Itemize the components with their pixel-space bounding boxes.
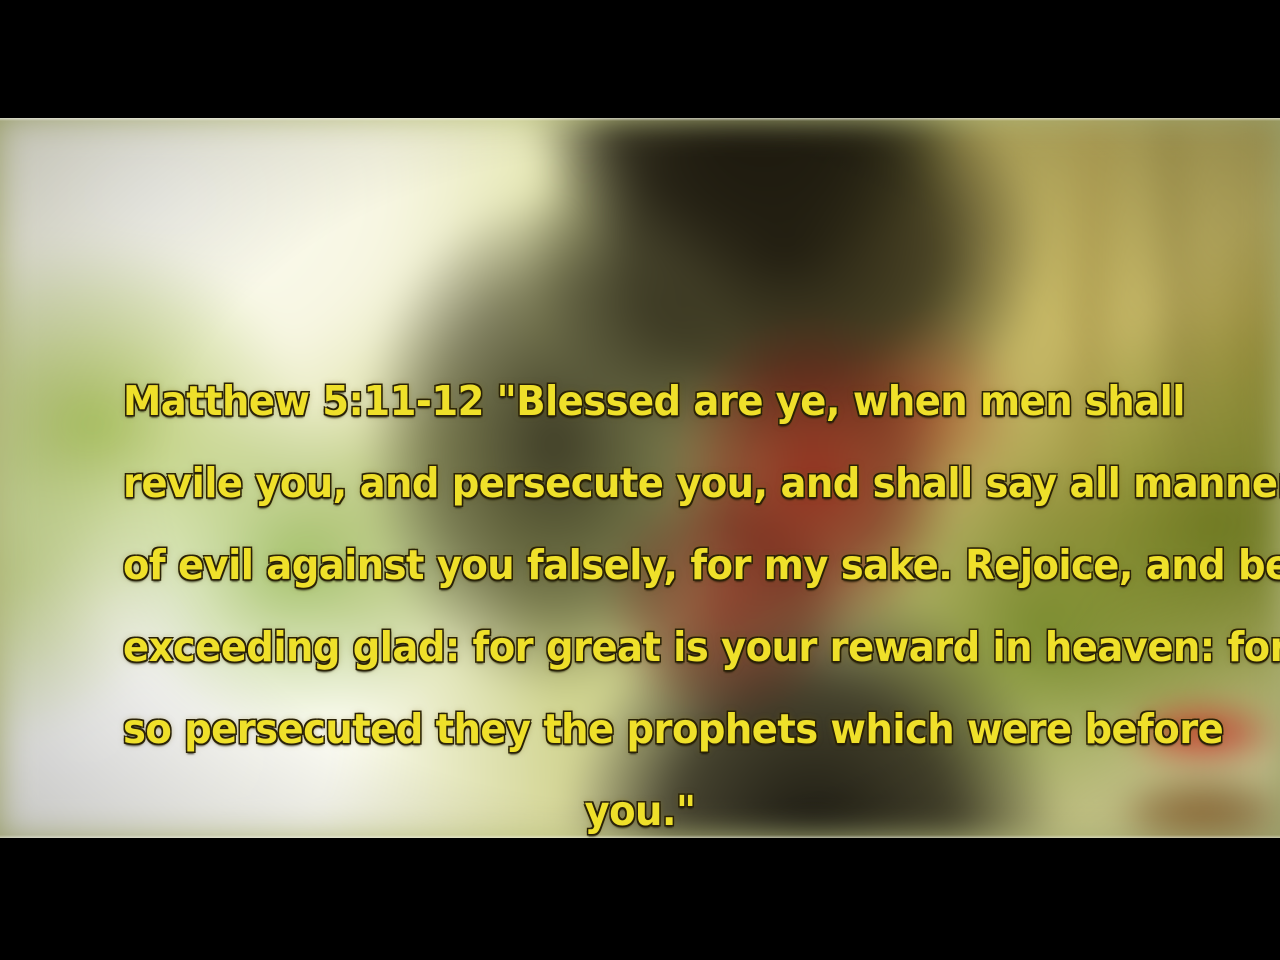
verse-line: so persecuted they the prophets which we… [123,688,1157,770]
letterbox-bar-bottom [0,838,1280,960]
scripture-caption: Matthew 5:11-12 "Blessed are ye, when me… [90,248,1190,838]
verse-line: exceeding glad: for great is your reward… [123,606,1157,688]
verse-line: of evil against you falsely, for my sake… [123,524,1157,606]
video-frame: Matthew 5:11-12 "Blessed are ye, when me… [0,0,1280,960]
video-content-area[interactable]: Matthew 5:11-12 "Blessed are ye, when me… [0,118,1280,838]
top-edge-seam [0,118,1280,121]
letterbox-bar-top [0,0,1280,118]
verse-line: you." [123,770,1157,838]
verse-line: Matthew 5:11-12 "Blessed are ye, when me… [123,360,1157,442]
verse-line: revile you, and persecute you, and shall… [123,442,1157,524]
